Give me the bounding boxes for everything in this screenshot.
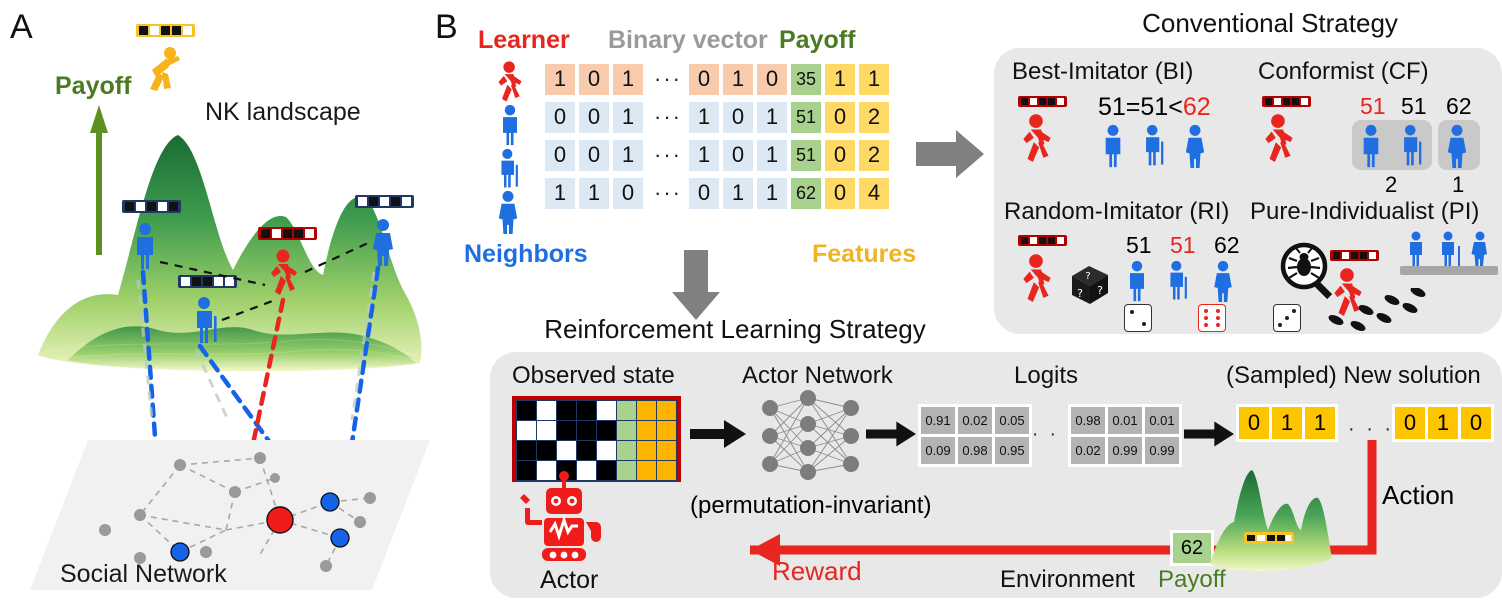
binary-vector-table: 1 0 1 ··· 0 1 0 35 1 1 0 0 1 ··· 1 0 1 5…: [545, 62, 893, 214]
bi-learner-icon: [1016, 112, 1058, 168]
bi-comparison-best: 62: [1183, 93, 1211, 121]
strategy-title-cf: Conformist (CF): [1258, 58, 1429, 86]
feature-cell: 4: [859, 178, 889, 209]
solution-bit: 1: [1305, 407, 1335, 439]
neighbor-network-node-1: [171, 543, 189, 561]
arrow-to-conventional-icon: [916, 128, 984, 180]
strategy-title-ri: Random-Imitator (RI): [1004, 198, 1229, 226]
table-row: 0 0 1 ··· 1 0 1 51 0 2: [545, 100, 893, 134]
payoff-cell: 62: [791, 178, 821, 209]
feature-cell: 0: [825, 140, 855, 171]
header-neighbors: Neighbors: [464, 240, 588, 269]
ellipsis: ···: [647, 180, 689, 206]
bit-cell: 1: [613, 64, 643, 95]
ri-die-face-2: [1198, 304, 1226, 332]
ellipsis: ···: [647, 142, 689, 168]
table-neighbor-icon-2: [494, 148, 524, 190]
table-neighbor-icon-3: [494, 190, 522, 234]
bit-cell: 0: [613, 178, 643, 209]
ri-value-1: 51: [1126, 232, 1152, 259]
header-learner: Learner: [478, 26, 570, 55]
bit-cell: 1: [613, 102, 643, 133]
environment-label: Environment: [1000, 566, 1135, 594]
bit-cell: 1: [757, 178, 787, 209]
bit-cell: 1: [689, 140, 719, 171]
svg-text:?: ?: [1085, 271, 1090, 282]
logit-cell: 0.91: [921, 407, 955, 434]
actor-label: Actor: [540, 566, 598, 595]
rl-strategy-title: Reinforcement Learning Strategy: [500, 314, 970, 345]
robot-actor-icon: [516, 470, 612, 566]
environment-landscape-icon: [1204, 466, 1334, 576]
bi-learner-strip: [1018, 96, 1067, 107]
ri-neighbor-icon-2: [1162, 260, 1194, 302]
ri-dice-icon: ? ? ?: [1068, 262, 1112, 306]
bit-cell: 0: [579, 140, 609, 171]
payoff-cell: 35: [791, 64, 821, 95]
bit-cell: 0: [545, 102, 575, 133]
bit-cell: 1: [579, 178, 609, 209]
bit-cell: 0: [689, 178, 719, 209]
logit-cell: 0.05: [995, 407, 1029, 434]
ri-neighbor-icon-3: [1208, 260, 1238, 302]
logit-cell: 0.98: [1071, 407, 1105, 434]
cf-value-2: 51: [1401, 93, 1427, 120]
conventional-strategy-title: Conventional Strategy: [1080, 8, 1460, 39]
reward-label: Reward: [772, 556, 862, 587]
social-network-title: Social Network: [60, 560, 227, 589]
solution-ellipsis: · · ·: [1348, 418, 1394, 441]
pi-ignored-neighbors-icon: [1396, 230, 1502, 276]
ri-learner-strip: [1018, 235, 1067, 246]
header-binary-vector: Binary vector: [608, 26, 768, 55]
bit-cell: 0: [579, 102, 609, 133]
table-row: 1 1 0 ··· 0 1 1 62 0 4: [545, 176, 893, 210]
svg-text:?: ?: [1097, 284, 1103, 297]
bit-cell: 1: [689, 102, 719, 133]
header-features: Features: [812, 240, 916, 269]
new-solution-label: (Sampled) New solution: [1226, 362, 1481, 390]
ellipsis: ···: [647, 104, 689, 130]
feature-cell: 0: [825, 178, 855, 209]
cf-neighbor-icon-3: [1442, 124, 1472, 168]
action-label: Action: [1382, 480, 1454, 511]
ri-neighbor-icon-1: [1122, 260, 1152, 302]
bit-cell: 0: [757, 64, 787, 95]
solution-bit: 0: [1461, 407, 1491, 439]
cf-value-3: 62: [1446, 93, 1472, 120]
ellipsis: ···: [647, 66, 689, 92]
solution-bit: 1: [1428, 407, 1458, 439]
feature-cell: 1: [859, 64, 889, 95]
ri-value-2: 51: [1170, 232, 1196, 259]
bi-comparison-prefix: 51=51<: [1098, 93, 1183, 121]
header-payoff: Payoff: [779, 26, 855, 55]
bit-cell: 0: [545, 140, 575, 171]
bit-cell: 1: [723, 64, 753, 95]
neighbor-network-node-3: [321, 493, 339, 511]
strategy-title-bi: Best-Imitator (BI): [1012, 58, 1193, 86]
feature-cell: 1: [825, 64, 855, 95]
panel-a: A Payoff NK landscape: [0, 0, 446, 606]
bit-cell: 0: [723, 140, 753, 171]
feature-cell: 2: [859, 102, 889, 133]
bi-neighbor-icon-3: [1180, 124, 1210, 168]
learner-network-node: [267, 507, 293, 533]
solution-bit: 0: [1239, 407, 1269, 439]
bit-cell: 1: [545, 64, 575, 95]
cf-neighbor-icon-1: [1356, 124, 1386, 168]
bit-cell: 1: [545, 178, 575, 209]
table-learner-icon: [490, 60, 530, 106]
table-row: 0 0 1 ··· 1 0 1 51 0 2: [545, 138, 893, 172]
bi-neighbor-icon-1: [1098, 124, 1128, 168]
cf-value-1: 51: [1360, 93, 1386, 120]
cf-learner-icon: [1258, 112, 1300, 168]
bit-cell: 0: [579, 64, 609, 95]
cf-count-majority: 2: [1385, 172, 1397, 198]
table-row: 1 0 1 ··· 0 1 0 35 1 1: [545, 62, 893, 96]
logits-label: Logits: [1014, 362, 1078, 390]
ri-learner-icon: [1016, 252, 1058, 308]
cf-count-minority: 1: [1452, 172, 1464, 198]
ri-value-3: 62: [1214, 232, 1240, 259]
bit-cell: 1: [757, 102, 787, 133]
payoff-cell: 51: [791, 140, 821, 171]
panel-b-letter: B: [435, 8, 458, 47]
bit-cell: 0: [723, 102, 753, 133]
ri-die-face-1: [1124, 304, 1152, 332]
arrow-to-rl-icon: [670, 250, 722, 320]
pi-footprints-icon: [1322, 288, 1452, 336]
logit-cell: 0.01: [1145, 407, 1179, 434]
feature-cell: 2: [859, 140, 889, 171]
table-neighbor-icon-1: [496, 104, 524, 146]
observed-state-label: Observed state: [512, 362, 675, 390]
new-solution-right-cells: 0 1 0: [1392, 404, 1494, 442]
cf-neighbor-icon-2: [1396, 124, 1428, 168]
svg-text:?: ?: [1077, 287, 1083, 300]
pi-learner-strip: [1330, 250, 1379, 261]
payoff-cell: 51: [791, 102, 821, 133]
bit-cell: 1: [757, 140, 787, 171]
bi-neighbor-icon-2: [1138, 124, 1170, 168]
reward-action-loop: [630, 440, 1460, 570]
solution-bit: 1: [1272, 407, 1302, 439]
neighbor-network-node-2: [331, 529, 349, 547]
bit-cell: 1: [613, 140, 643, 171]
strategy-title-pi: Pure-Individualist (PI): [1250, 198, 1479, 226]
bit-cell: 0: [689, 64, 719, 95]
logit-cell: 0.02: [958, 407, 992, 434]
bi-comparison: 51=51<62: [1098, 93, 1211, 122]
new-solution-left-cells: 0 1 1: [1236, 404, 1338, 442]
feature-cell: 0: [825, 102, 855, 133]
cf-learner-strip: [1262, 96, 1311, 107]
logit-cell: 0.01: [1108, 407, 1142, 434]
bit-cell: 1: [723, 178, 753, 209]
ri-die-face-3: [1273, 304, 1301, 332]
solution-bit: 0: [1395, 407, 1425, 439]
